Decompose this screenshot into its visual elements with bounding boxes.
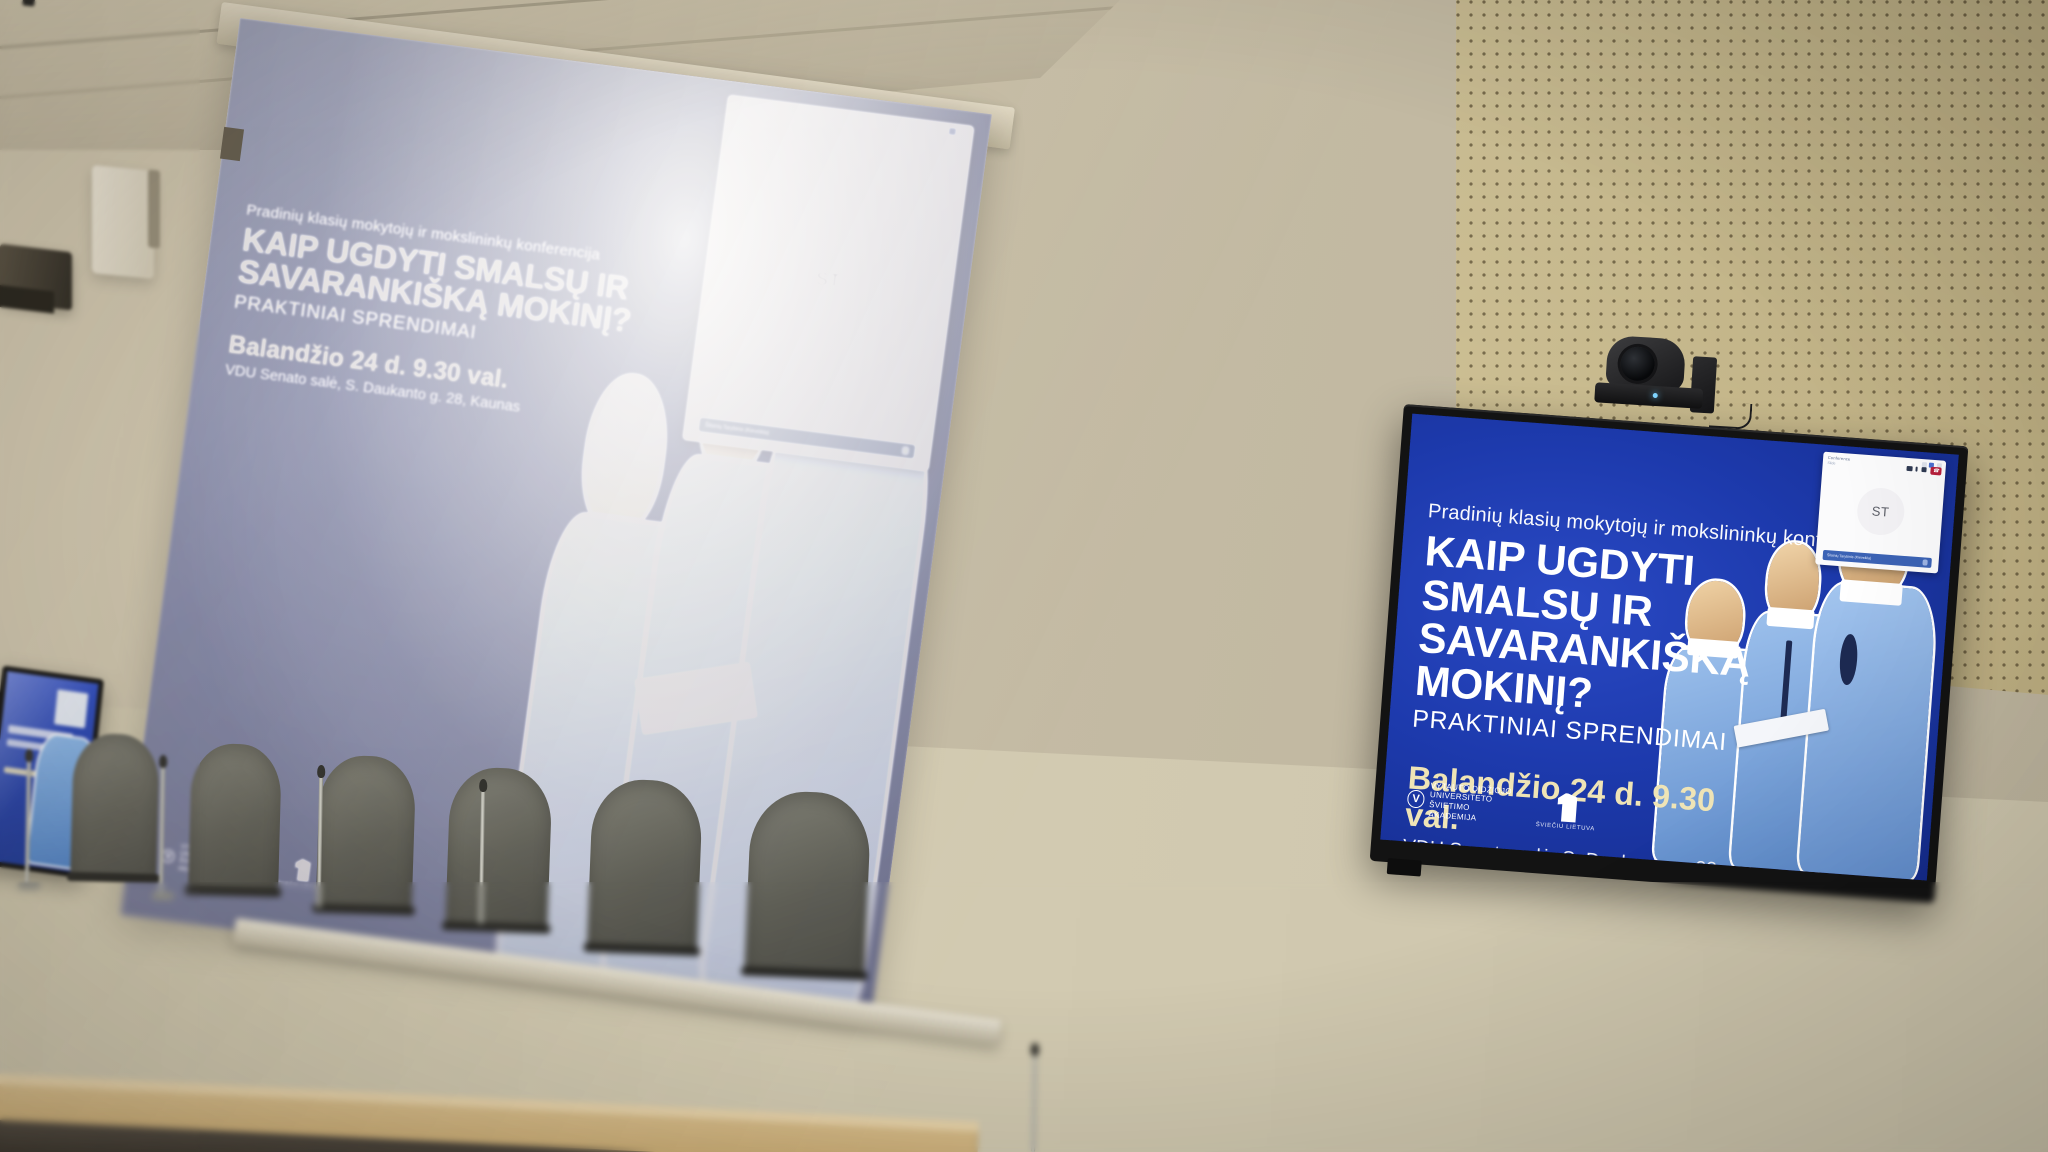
tv-hand-icon xyxy=(1551,792,1582,823)
projected-conference-window: Conference Slide ST Šilainių Tarybinis (… xyxy=(682,95,973,471)
camera-icon[interactable] xyxy=(1907,466,1913,471)
conference-chair xyxy=(744,790,872,979)
tv-screen[interactable]: Pradinių klasių mokytojų ir mokslininkų … xyxy=(1380,414,1958,881)
conference-video-area: ST xyxy=(1816,464,1945,558)
wall-speaker-upper xyxy=(92,165,154,279)
speaker-mount-arm xyxy=(148,169,160,248)
camera-cable xyxy=(1709,401,1753,430)
tv-bezel: Pradinių klasių mokytojų ir mokslininkų … xyxy=(1370,404,1969,903)
conference-chair xyxy=(445,766,553,931)
tv-vdu-seal-text: VYTAUTO DIDŽIOJO UNIVERSITETO ŠVIETIMO A… xyxy=(1428,781,1512,826)
ptz-conference-camera xyxy=(1594,334,1718,415)
wall-mounted-display[interactable]: Pradinių klasių mokytojų ir mokslininkų … xyxy=(1370,404,1969,903)
hand-icon xyxy=(290,858,315,883)
share-screen-icon[interactable] xyxy=(1921,467,1927,472)
tv-slide: Pradinių klasių mokytojų ir mokslininkų … xyxy=(1380,414,1958,881)
phone-down-icon[interactable]: ☎ xyxy=(1930,466,1942,475)
participant-name: Šilainių Tarybinis (Kieveikla) xyxy=(1827,553,1872,560)
avatar: ST xyxy=(1855,486,1905,536)
projection-screen-housing-end xyxy=(220,127,244,161)
camera-lens-icon xyxy=(1620,346,1656,382)
conference-chair xyxy=(587,778,704,954)
microphone-base xyxy=(152,892,174,900)
conference-chair xyxy=(316,755,417,914)
camera-base xyxy=(1594,382,1703,409)
participant-mic-icon xyxy=(1922,559,1927,565)
conference-chair xyxy=(70,733,160,881)
tv-vdu-seal-icon: V xyxy=(1407,790,1425,808)
mic-icon xyxy=(901,446,909,456)
conference-hall-scene: Pradinių klasių mokytojų ir mokslininkų … xyxy=(0,0,2048,1152)
tv-knowledge-hand-logo: ŠVIEČIU LIETUVA xyxy=(1535,791,1597,832)
projected-conf-body: ST xyxy=(685,114,971,447)
tv-vdu-seal-logo: V VYTAUTO DIDŽIOJO UNIVERSITETO ŠVIETIMO… xyxy=(1406,779,1512,826)
microphone-base xyxy=(18,882,40,890)
conference-window[interactable]: Conference Slide ☎ xyxy=(1815,451,1946,573)
conference-chair xyxy=(188,743,282,895)
tv-wall-bracket xyxy=(1387,858,1422,877)
projected-participant-name: Šilainių Tarybinis (Kieveikla) xyxy=(704,423,769,437)
projected-avatar: ST xyxy=(775,228,881,333)
mic-icon[interactable] xyxy=(1916,467,1918,472)
